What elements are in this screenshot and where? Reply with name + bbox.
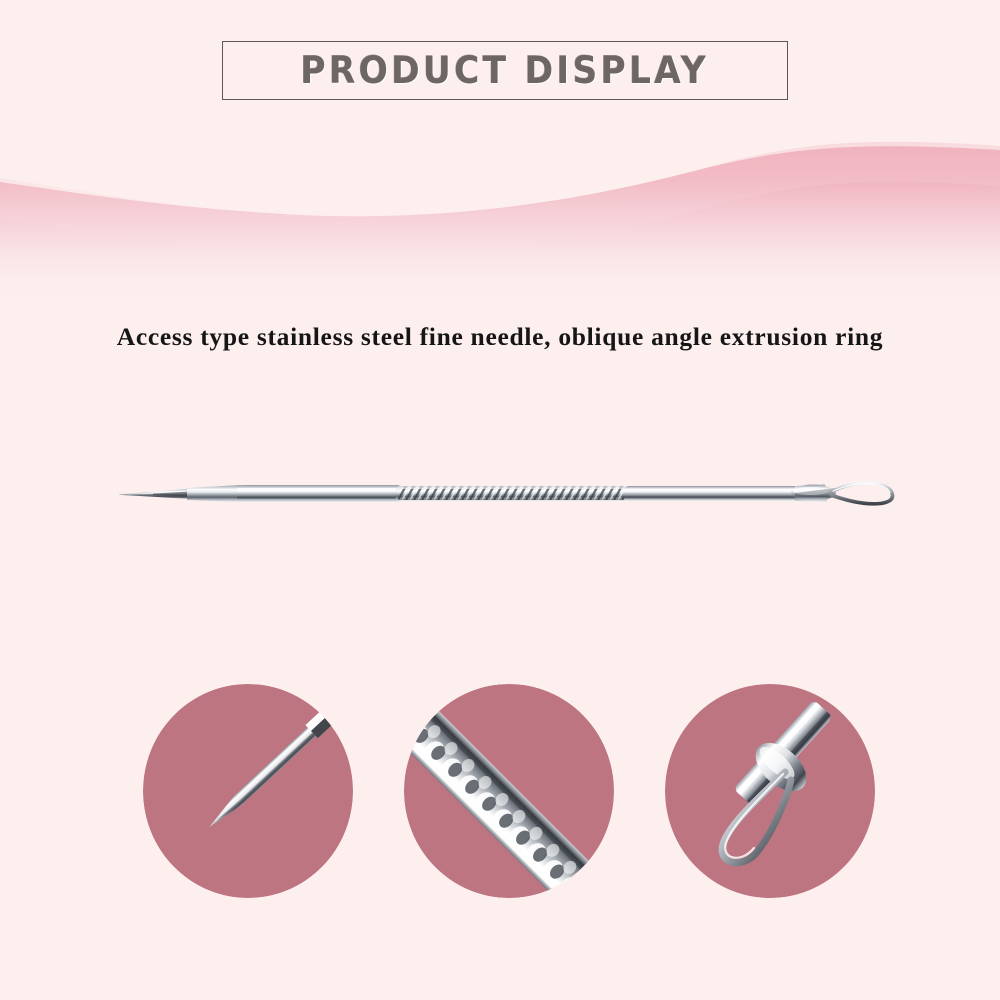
detail-circles-row — [0, 684, 1000, 900]
needle-tip-part — [119, 489, 191, 500]
hero-product-image — [95, 455, 915, 545]
detail-knurled-grip — [404, 684, 614, 898]
pink-wave-band — [0, 120, 1000, 310]
page-title: PRODUCT DISPLAY — [301, 49, 710, 92]
extrusion-loop-part — [831, 483, 893, 504]
product-subtitle: Access type stainless steel fine needle,… — [0, 322, 1000, 352]
detail-needle-tip — [143, 684, 353, 898]
product-display-page: PRODUCT DISPLAY Access type stainless st… — [0, 0, 1000, 1000]
knurled-grip-part — [395, 484, 631, 502]
product-display-title-frame: PRODUCT DISPLAY — [222, 41, 788, 100]
detail-extrusion-loop — [665, 684, 875, 898]
